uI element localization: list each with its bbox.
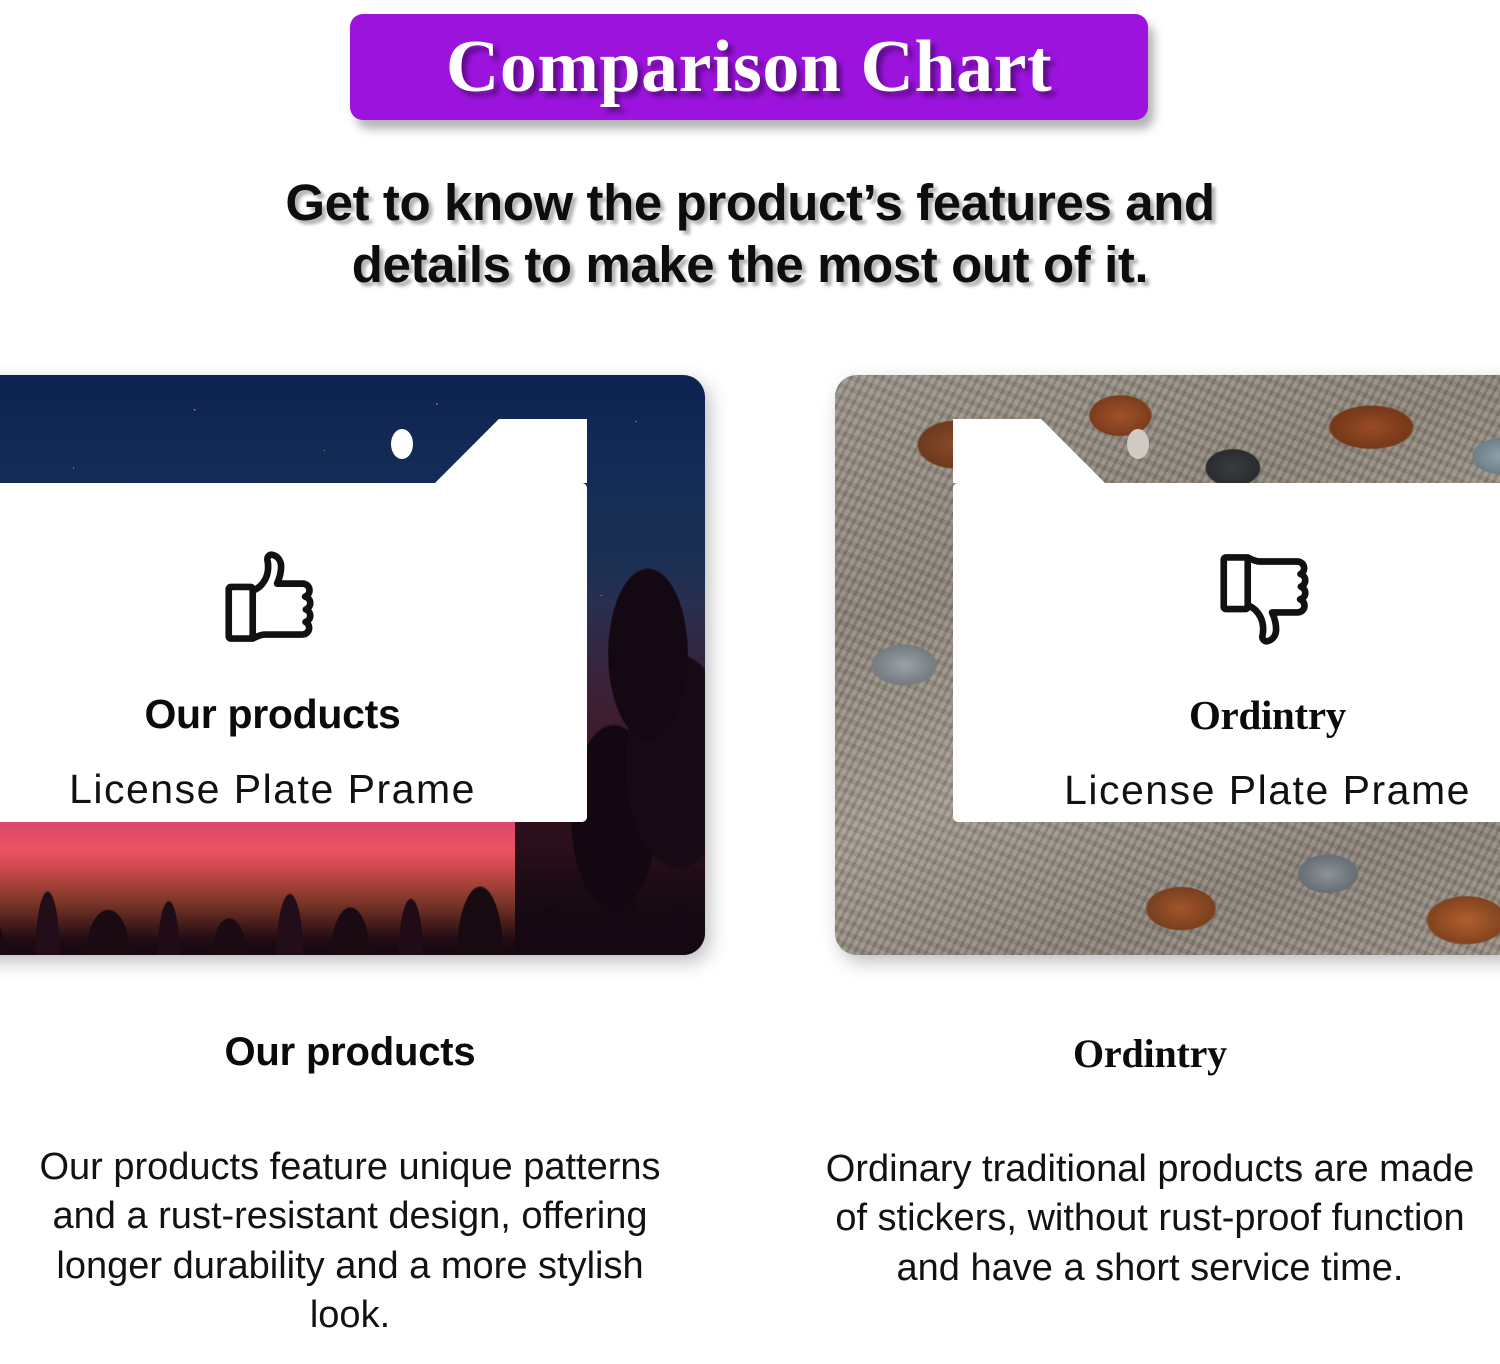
our-product-frame: Our products License Plate Prame <box>0 375 705 955</box>
comparison-chart-banner: Comparison Chart <box>350 14 1148 120</box>
comparison-heading-ordinary: Ordintry <box>785 1030 1500 1077</box>
ordinary-frame-window-content: Ordintry License Plate Prame <box>953 539 1500 814</box>
thumbs-up-icon <box>214 539 332 657</box>
ordinary-frame-name: Ordintry <box>953 691 1500 739</box>
thumbs-down-icon <box>1209 539 1327 657</box>
subtitle-line-2: details to make the most out of it. <box>120 234 1380 296</box>
ordinary-product-frame: Ordintry License Plate Prame <box>835 375 1500 955</box>
our-frame-plate-window: Our products License Plate Prame <box>0 483 587 822</box>
ordinary-frame-plate-window: Ordintry License Plate Prame <box>953 483 1500 822</box>
page-subtitle: Get to know the product’s features and d… <box>0 172 1500 296</box>
ordinary-frame-mounting-hole <box>1127 429 1149 459</box>
ordinary-frame-subtitle: License Plate Prame <box>953 767 1500 814</box>
page-title: Comparison Chart <box>446 25 1052 110</box>
comparison-body-ours: Our products feature unique patterns and… <box>0 1143 715 1341</box>
comparison-heading-ours: Our products <box>0 1030 715 1075</box>
comparison-columns: Our products Our products feature unique… <box>0 1030 1500 1364</box>
product-frames-row: Our products License Plate Prame Ordintr… <box>0 370 1500 960</box>
our-frame-window-content: Our products License Plate Prame <box>0 539 587 813</box>
our-frame-subtitle: License Plate Prame <box>0 766 587 813</box>
comparison-body-ordinary: Ordinary traditional products are made o… <box>785 1145 1500 1293</box>
our-frame-mounting-hole <box>391 429 413 459</box>
subtitle-line-1: Get to know the product’s features and <box>120 172 1380 234</box>
our-frame-name: Our products <box>0 691 587 738</box>
comparison-column-ordinary: Ordintry Ordinary traditional products a… <box>785 1030 1500 1293</box>
comparison-column-ours: Our products Our products feature unique… <box>0 1030 715 1341</box>
